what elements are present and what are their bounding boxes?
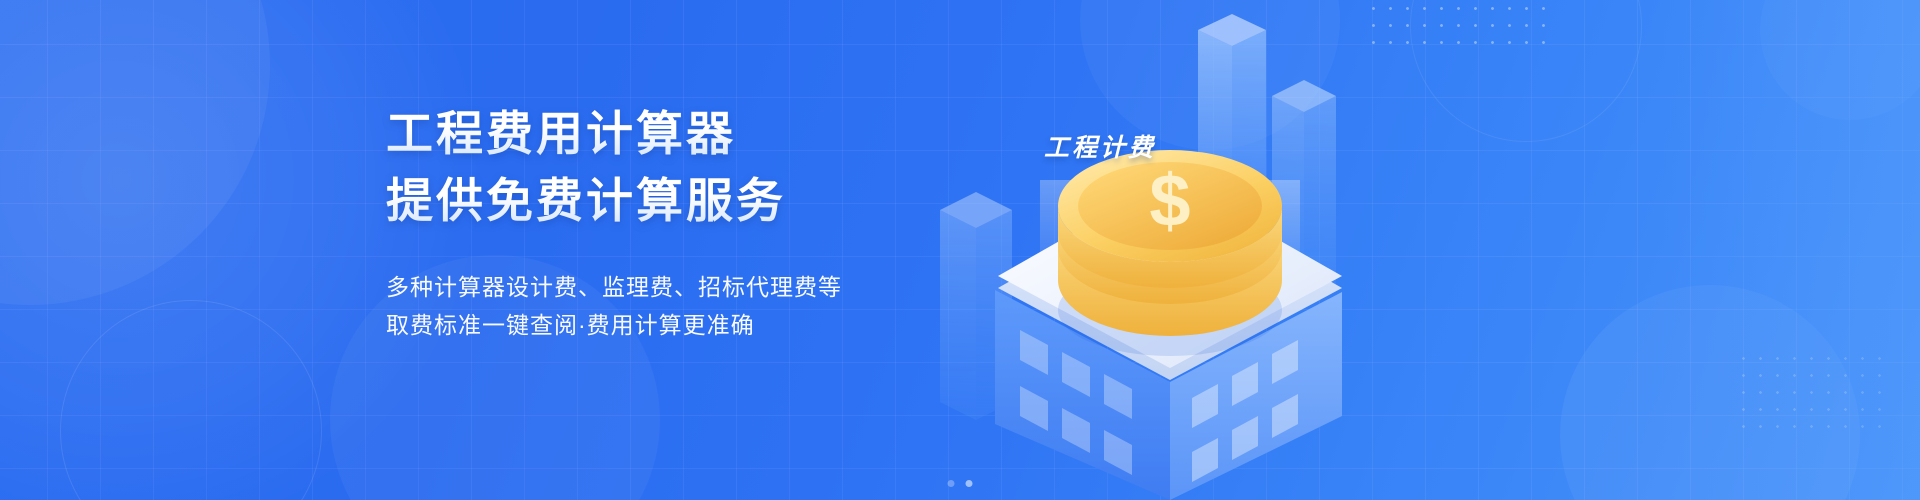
- promo-banner: 工程费用计算器 提供免费计算服务 多种计算器设计费、监理费、招标代理费等 取费标…: [0, 0, 1920, 500]
- gold-coin-stack: $: [1058, 150, 1282, 356]
- isometric-building-illustration: $: [880, 0, 1440, 500]
- banner-illustration: $ 工程计费: [880, 0, 1440, 500]
- carousel-dots[interactable]: [948, 480, 973, 487]
- banner-subtitle-block: 多种计算器设计费、监理费、招标代理费等 取费标准一键查阅·费用计算更准确: [386, 268, 946, 344]
- banner-text-block: 工程费用计算器 提供免费计算服务 多种计算器设计费、监理费、招标代理费等 取费标…: [386, 104, 946, 344]
- banner-headline-line-1: 工程费用计算器: [386, 104, 946, 164]
- dot-pattern-decoration: [1735, 350, 1885, 430]
- carousel-dot-1[interactable]: [948, 480, 955, 487]
- banner-headline-line-2: 提供免费计算服务: [386, 171, 946, 231]
- banner-subtitle-line-2: 取费标准一键查阅·费用计算更准确: [386, 306, 946, 344]
- banner-subtitle-line-1: 多种计算器设计费、监理费、招标代理费等: [386, 268, 946, 306]
- coin-dollar-symbol: $: [1149, 159, 1190, 242]
- carousel-dot-2[interactable]: [966, 480, 973, 487]
- illustration-badge-label: 工程计费: [1044, 128, 1156, 164]
